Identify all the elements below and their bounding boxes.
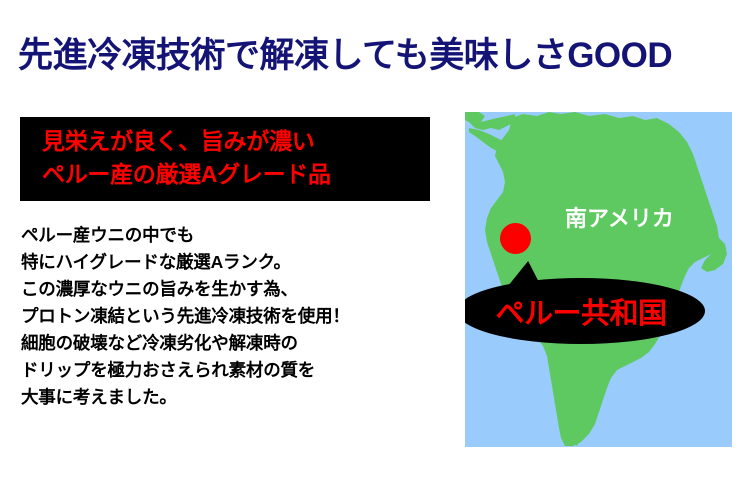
promo-page: 先進冷凍技術で解凍しても美味しさGOOD 見栄えが良く、旨みが濃い ペルー産の厳…: [0, 0, 750, 477]
description-line: この濃厚なウニの旨みを生かす為、: [21, 276, 441, 303]
description-line: 細胞の破壊など冷凍劣化や解凍時の: [21, 330, 441, 357]
page-title: 先進冷凍技術で解凍しても美味しさGOOD: [18, 38, 738, 73]
south-america-map: 南アメリカ ペルー共和国: [465, 112, 732, 447]
highlight-banner: 見栄えが良く、旨みが濃い ペルー産の厳選Aグレード品: [20, 117, 430, 201]
description-line: 特にハイグレードな厳選Aランク。: [21, 249, 441, 276]
description-line: プロトン凍結という先進冷凍技術を使用！: [21, 303, 441, 330]
banner-line-1: 見栄えが良く、旨みが濃い: [42, 130, 314, 153]
description-text: ペルー産ウニの中でも 特にハイグレードな厳選Aランク。 この濃厚なウニの旨みを生…: [21, 222, 441, 411]
banner-line-2: ペルー産の厳選Aグレード品: [42, 163, 331, 186]
peru-callout: ペルー共和国: [465, 264, 705, 344]
description-line: ドリップを極力おさえられ素材の質を: [21, 357, 441, 384]
description-line: ペルー産ウニの中でも: [21, 222, 441, 249]
callout-label: ペルー共和国: [465, 278, 705, 344]
continent-label: 南アメリカ: [565, 208, 674, 230]
description-line: 大事に考えました。: [21, 384, 441, 411]
peru-location-marker: [500, 223, 531, 254]
